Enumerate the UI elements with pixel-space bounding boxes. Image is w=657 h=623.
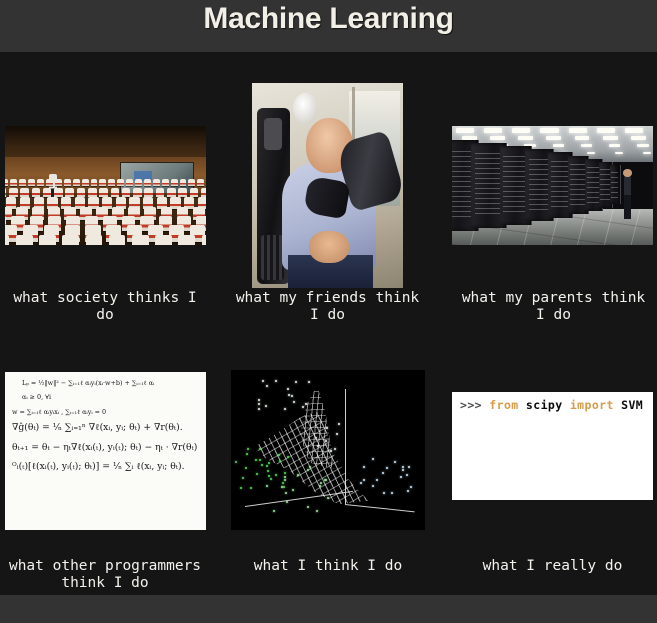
meme-image: Machine Learning what society thinks I d…: [0, 0, 657, 623]
caption-other-programmers: what other programmers think I do: [0, 558, 210, 592]
python-console-panel: >>> from scipy import SVM: [452, 392, 653, 500]
bottom-background-band: [0, 595, 657, 623]
robot-rows: [5, 176, 206, 245]
man-clasped-hands: [309, 231, 348, 264]
equation-line: Lₚ = ½‖w‖² − ∑ᵢ₌₁ℓ αᵢyᵢ(xᵢ·w+b) + ∑ᵢ₌₁ℓ …: [12, 380, 199, 387]
console-keyword-import: import: [570, 398, 614, 412]
caption-parents: what my parents think I do: [450, 290, 657, 324]
equation-line: αᵢ ≥ 0, ∀i: [12, 394, 199, 401]
equation-line: w = ∑ᵢ₌₁ℓ αᵢyᵢxᵢ , ∑ᵢ₌₁ℓ αᵢyᵢ = 0: [12, 409, 199, 416]
svm-math-equations-panel: Lₚ = ½‖w‖² − ∑ᵢ₌₁ℓ αᵢyᵢ(xᵢ·w+b) + ∑ᵢ₌₁ℓ …: [5, 372, 206, 530]
console-keyword-from: from: [489, 398, 518, 412]
console-module-name: scipy: [519, 398, 570, 412]
lecture-hall-of-robots-photo: [5, 126, 206, 245]
caption-i-really-do: what I really do: [452, 558, 653, 575]
caption-society: what society thinks I do: [0, 290, 210, 324]
console-symbol-name: SVM: [614, 398, 643, 412]
equation-line: ∇ĝ(θₜ) = ¹⁄ₙ ∑ᵢ₌₁ⁿ ∇ℓ(xᵢ, yᵢ; θₜ) + ∇r(θ…: [12, 423, 199, 434]
plot-right-axis: [345, 504, 415, 512]
server-room-technician: [624, 176, 631, 219]
supercomputer-server-room-photo: [452, 126, 653, 245]
equation-line: ᴼᵢ(ₜ)[ℓ(xᵢ(ₜ), yᵢ(ₜ); θₜ)] = ¹⁄ₙ ∑ᵢ ℓ(xᵢ…: [12, 462, 199, 473]
equation-line: θₜ₊₁ = θₜ − ηₜ∇ℓ(xᵢ(ₜ), yᵢ(ₜ); θₜ) − ηₜ …: [12, 443, 199, 454]
svm-3d-hyperplane-plot: [231, 370, 425, 530]
page-title: Machine Learning: [0, 2, 657, 36]
console-prompt: >>>: [460, 398, 489, 412]
caption-friends: what my friends think I do: [225, 290, 430, 324]
man-with-robot-arm-photo: [252, 83, 403, 288]
caption-i-think: what I think I do: [228, 558, 428, 575]
server-racks: [452, 136, 653, 236]
